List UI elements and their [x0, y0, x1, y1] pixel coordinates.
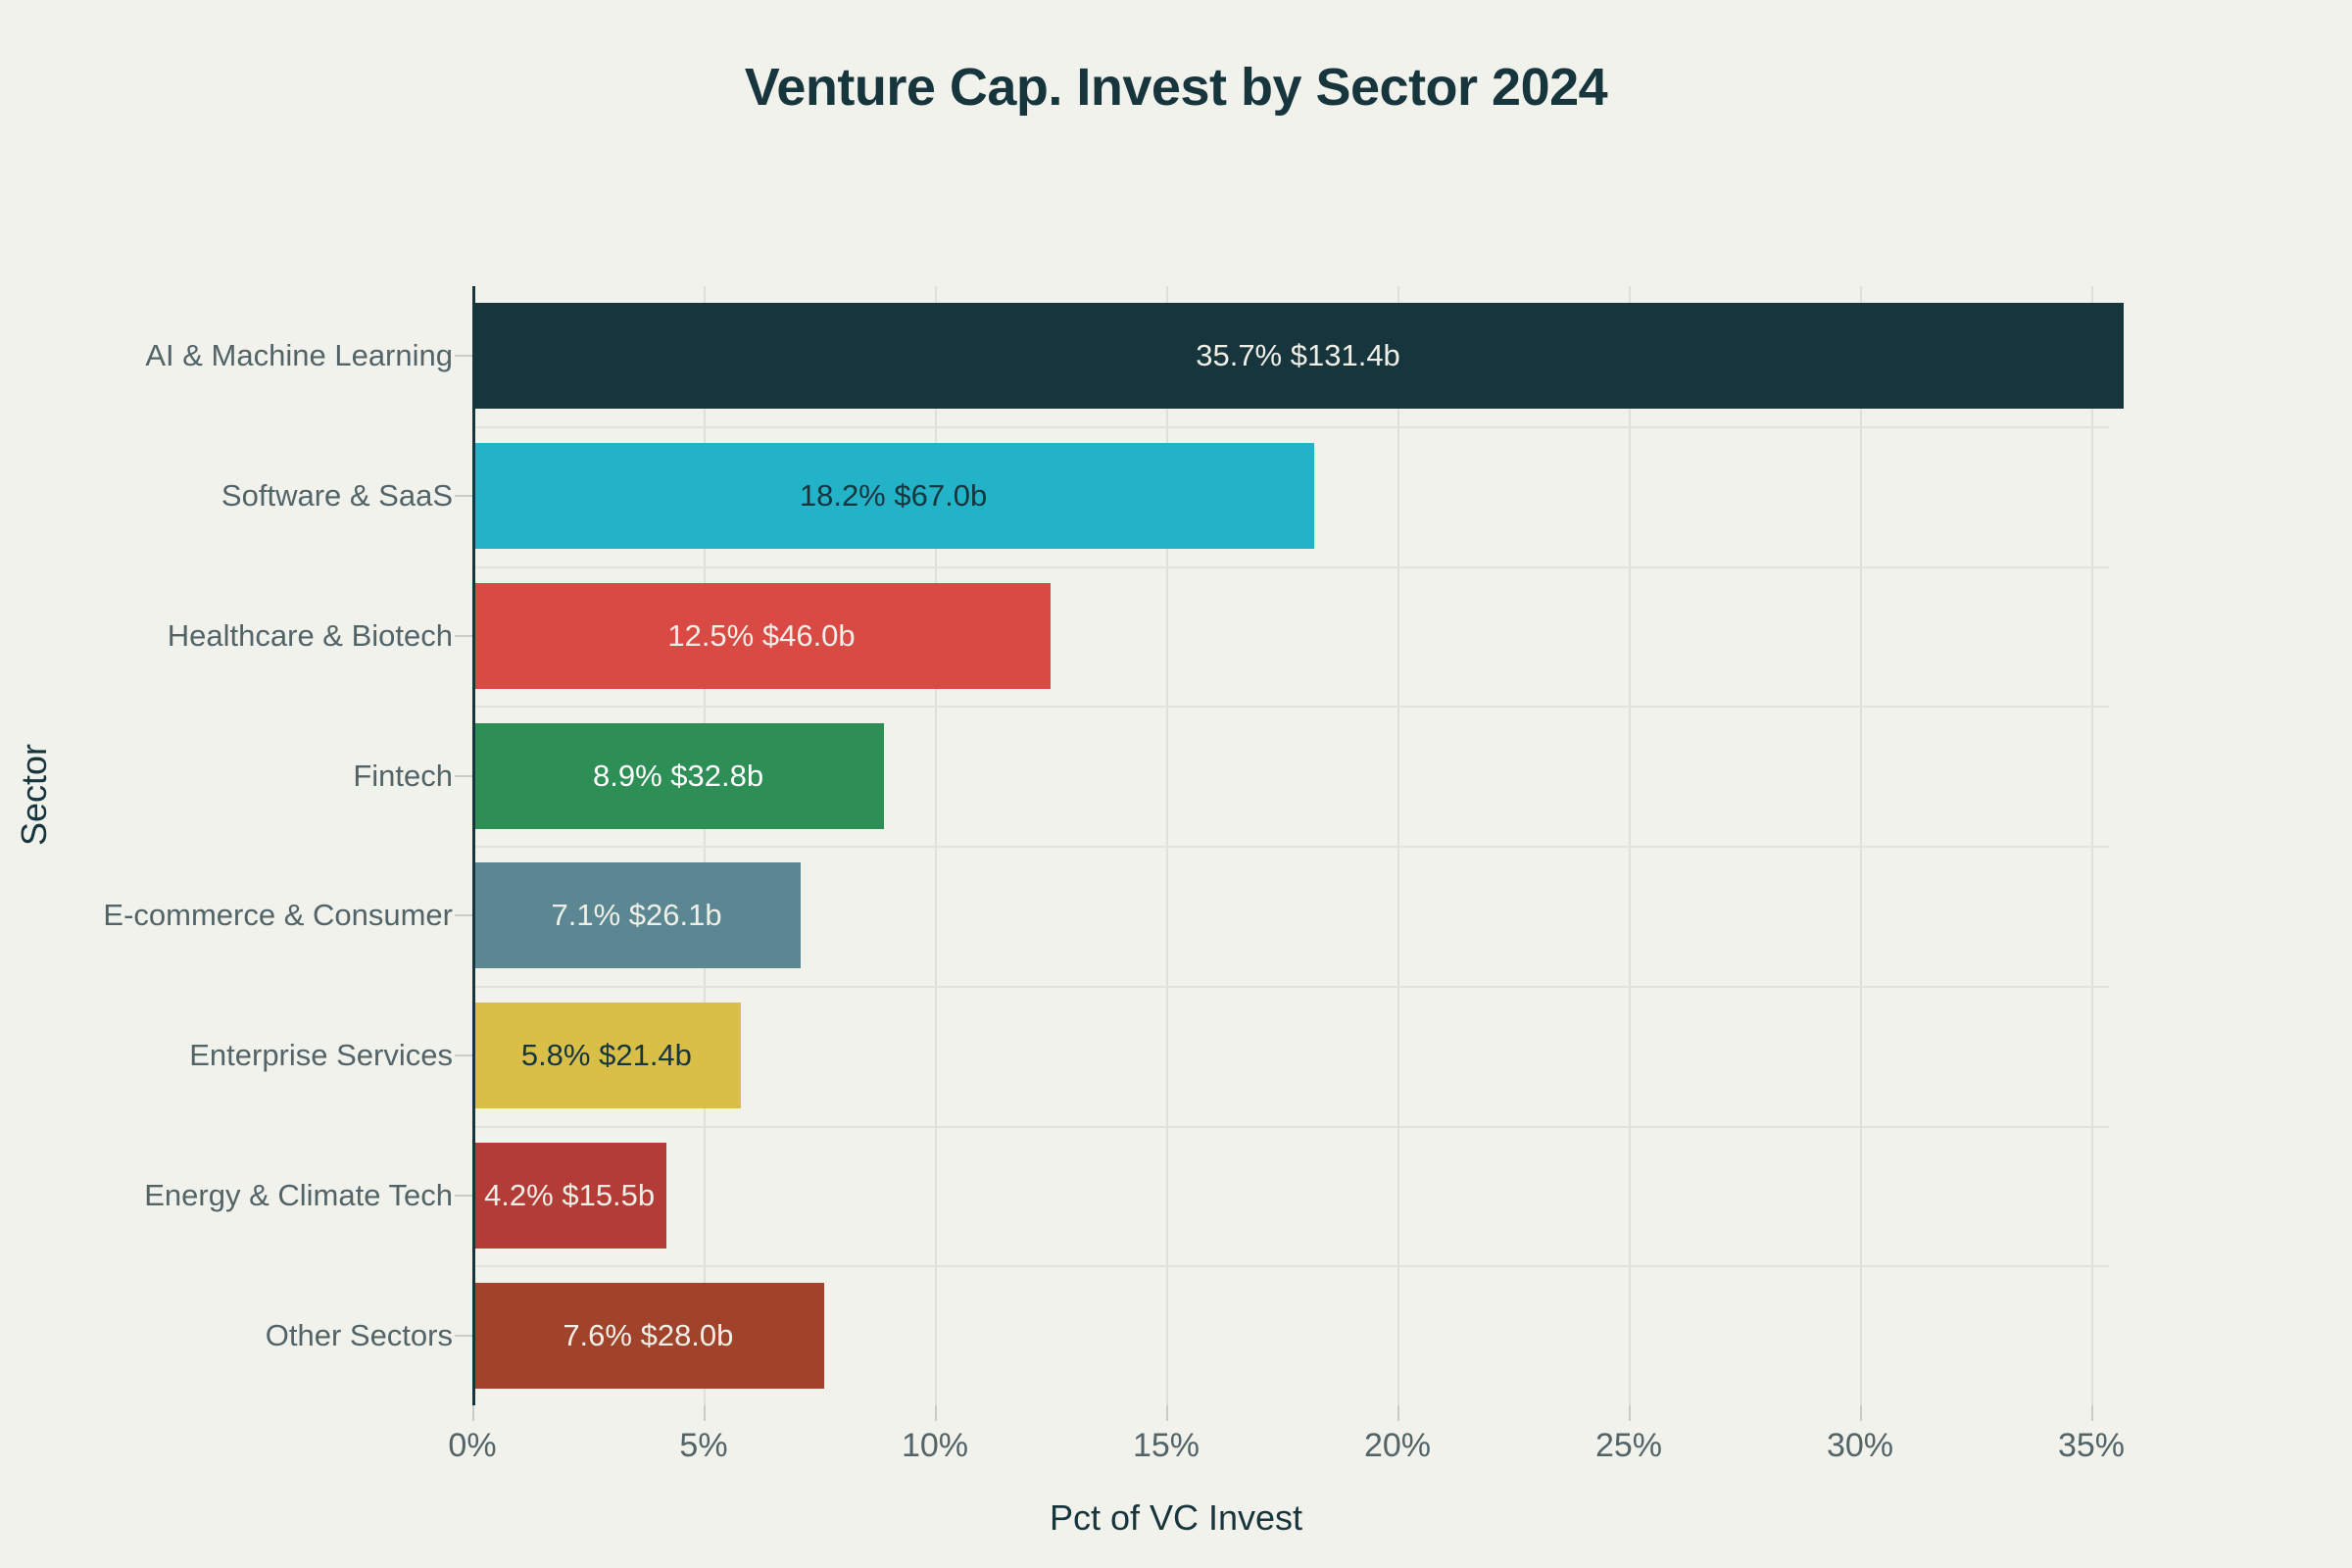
y-tick-mark: [455, 635, 472, 637]
x-tick-label: 0%: [448, 1427, 496, 1465]
bar-value-label: 7.1% $26.1b: [552, 898, 722, 933]
bar-value-label: 12.5% $46.0b: [667, 618, 855, 654]
bar-value-label: 8.9% $32.8b: [593, 759, 763, 794]
x-axis-title: Pct of VC Invest: [0, 1497, 2352, 1539]
x-tick-label: 10%: [902, 1427, 968, 1465]
y-tick-mark: [455, 914, 472, 916]
chart-title: Venture Cap. Invest by Sector 2024: [0, 57, 2352, 118]
y-tick-mark: [455, 1335, 472, 1337]
bar-row: 5.8% $21.4b: [472, 1003, 2109, 1108]
bar-row: 12.5% $46.0b: [472, 583, 2109, 689]
x-tick-mark: [1166, 1405, 1168, 1421]
bar-row: 18.2% $67.0b: [472, 443, 2109, 549]
y-tick-label: Software & SaaS: [221, 478, 453, 514]
y-tick-label: E-commerce & Consumer: [103, 898, 453, 933]
x-tick-mark: [1860, 1405, 1862, 1421]
y-tick-mark: [455, 1054, 472, 1056]
bar-row: 7.1% $26.1b: [472, 862, 2109, 968]
y-tick-mark: [455, 775, 472, 777]
x-tick-label: 25%: [1595, 1427, 1662, 1465]
y-tick-label: Fintech: [353, 759, 453, 794]
category-separator: [472, 706, 2109, 708]
bar-value-label: 18.2% $67.0b: [800, 478, 987, 514]
y-tick-label: Energy & Climate Tech: [144, 1178, 453, 1213]
bar-row: 7.6% $28.0b: [472, 1283, 2109, 1389]
y-tick-label: Healthcare & Biotech: [168, 618, 453, 654]
category-separator: [472, 986, 2109, 988]
category-separator: [472, 566, 2109, 568]
bar-value-label: 35.7% $131.4b: [1196, 338, 1400, 373]
category-separator: [472, 1265, 2109, 1267]
y-tick-mark: [455, 1195, 472, 1197]
y-tick-mark: [455, 495, 472, 497]
category-separator: [472, 426, 2109, 428]
x-tick-mark: [1397, 1405, 1399, 1421]
bar-row: 8.9% $32.8b: [472, 723, 2109, 829]
y-tick-label: Enterprise Services: [189, 1038, 453, 1073]
x-tick-mark: [1629, 1405, 1631, 1421]
x-tick-label: 30%: [1827, 1427, 1893, 1465]
y-axis-spine: [472, 286, 475, 1405]
bar-row: 35.7% $131.4b: [472, 303, 2109, 409]
x-tick-label: 15%: [1133, 1427, 1200, 1465]
category-separator: [472, 1126, 2109, 1128]
y-tick-mark: [455, 355, 472, 357]
x-tick-label: 35%: [2058, 1427, 2125, 1465]
chart-canvas: Venture Cap. Invest by Sector 2024 35.7%…: [0, 0, 2352, 1568]
category-separator: [472, 846, 2109, 848]
x-tick-mark: [2091, 1405, 2093, 1421]
x-tick-mark: [935, 1405, 937, 1421]
x-tick-mark: [472, 1405, 474, 1421]
bar-value-label: 7.6% $28.0b: [563, 1318, 733, 1353]
y-axis-title: Sector: [14, 707, 55, 883]
x-tick-label: 20%: [1364, 1427, 1431, 1465]
bar-value-label: 5.8% $21.4b: [521, 1038, 692, 1073]
y-tick-label: AI & Machine Learning: [145, 338, 453, 373]
plot-area: 35.7% $131.4b18.2% $67.0b12.5% $46.0b8.9…: [472, 286, 2109, 1405]
bar-row: 4.2% $15.5b: [472, 1143, 2109, 1249]
x-tick-mark: [704, 1405, 706, 1421]
x-tick-label: 5%: [679, 1427, 727, 1465]
bar-value-label: 4.2% $15.5b: [484, 1178, 655, 1213]
y-tick-label: Other Sectors: [266, 1318, 453, 1353]
